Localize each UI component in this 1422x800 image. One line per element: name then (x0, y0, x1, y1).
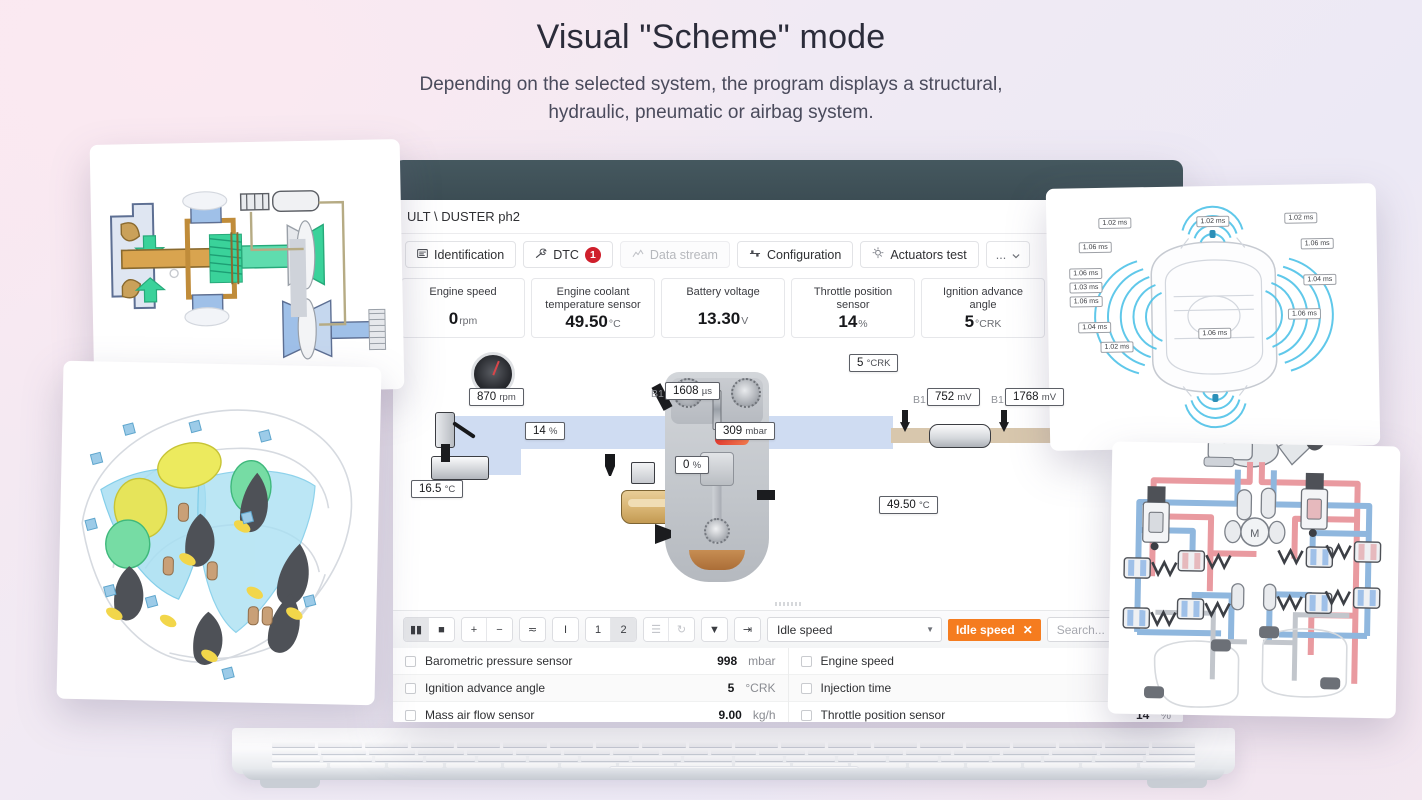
tooltip-unit: % (549, 426, 557, 437)
parameter-card-value: 5°CRK (928, 312, 1038, 332)
keyboard-key (272, 742, 315, 747)
mass-air-flow-sensor (435, 412, 455, 448)
parameter-card-name: Ignition advance angle (928, 286, 1038, 312)
laptop-foot-left (260, 780, 320, 788)
keyboard-key (369, 749, 415, 754)
wrench-icon (535, 248, 547, 262)
tooltip-unit: mbar (745, 426, 767, 437)
tab-more-menu[interactable]: ... (986, 241, 1030, 268)
parameter-card-unit: % (858, 318, 867, 330)
parking-sensor-scheme-card[interactable]: 1.02 ms 1.06 ms 1.06 ms 1.03 ms 1.06 ms … (1046, 183, 1381, 451)
row-checkbox[interactable] (801, 656, 812, 667)
parameter-card-number: 49.50 (565, 312, 608, 331)
row-name: Barometric pressure sensor (425, 654, 708, 668)
parameter-card-coolant-temp[interactable]: Engine coolant temperature sensor 49.50°… (531, 278, 655, 338)
row-value: 9.00 (718, 708, 741, 722)
bank-label-o2-upstream: B1 (913, 394, 926, 406)
keyboard-key (954, 749, 1000, 754)
keyboard-key (1059, 742, 1102, 747)
parameter-card-value: 13.30V (668, 309, 778, 329)
keyboard-key (920, 742, 963, 747)
parameter-card-engine-speed[interactable]: Engine speed 0rpm (401, 278, 525, 338)
parking-label: 1.02 ms (1196, 216, 1229, 228)
page-1-button[interactable]: 1 (586, 618, 611, 641)
page-subtitle-line1: Depending on the selected system, the pr… (420, 74, 1003, 95)
page-root: Visual "Scheme" mode Depending on the se… (0, 0, 1422, 800)
bank-label-o2-downstream: B1 (991, 394, 1004, 406)
tab-actuators-test[interactable]: Actuators test (860, 241, 978, 268)
keyboard-key (1044, 756, 1092, 761)
evap-canister (631, 462, 655, 484)
table-row[interactable]: Mass air flow sensor 9.00 kg/h (393, 702, 788, 722)
parameter-card-value: 14% (798, 312, 908, 332)
bulb-icon (872, 247, 884, 262)
keyboard-row (272, 742, 1195, 747)
parameter-card-unit: °CRK (975, 318, 1001, 330)
search-placeholder: Search... (1057, 623, 1105, 637)
keyboard-key (457, 742, 500, 747)
tooltip-unit: °C (919, 500, 930, 511)
parameter-card-unit: °C (609, 318, 621, 330)
cursor-group: I (552, 617, 579, 642)
parameter-card-ignition-advance[interactable]: Ignition advance angle 5°CRK (921, 278, 1045, 338)
keyboard-key (1095, 756, 1143, 761)
tooltip-coolant-temp[interactable]: 49.50 °C (879, 496, 938, 514)
row-checkbox[interactable] (801, 683, 812, 694)
air-filter-box (431, 456, 489, 480)
row-value: 5 (728, 681, 735, 695)
tooltip-value: 49.50 (887, 499, 916, 511)
keyboard-key (941, 756, 989, 761)
keyboard-key (318, 742, 361, 747)
tooltip-injection-time[interactable]: 1608 µs (665, 382, 720, 400)
keyboard-key (711, 749, 757, 754)
keyboard-key (467, 749, 513, 754)
tooltip-value: 16.5 (419, 483, 441, 495)
card-icon (417, 248, 428, 262)
airbag-system-scheme-card[interactable] (56, 361, 381, 706)
keyboard-key (321, 749, 367, 754)
keyboard-key (684, 756, 732, 761)
keyboard-key (1052, 749, 1098, 754)
cvt-transmission-illustration (90, 139, 405, 395)
cursor-button[interactable]: I (553, 618, 578, 641)
tooltip-value: 1768 (1013, 391, 1039, 403)
close-icon[interactable]: ✕ (1023, 623, 1033, 637)
tooltip-engine-speed[interactable]: 870 rpm (469, 388, 524, 406)
stop-button[interactable]: ■ (429, 618, 454, 641)
tab-dtc[interactable]: DTC 1 (523, 241, 613, 268)
zoom-group: + − (461, 617, 513, 642)
keyboard-key (992, 756, 1040, 761)
row-unit: °CRK (745, 681, 775, 695)
parameter-table: Barometric pressure sensor 998 mbar Igni… (393, 648, 1183, 722)
parameter-card-number: 14 (838, 312, 857, 331)
tooltip-o2-upstream[interactable]: 752 mV (927, 388, 980, 406)
page-title: Visual "Scheme" mode (0, 18, 1422, 57)
keyboard-key (564, 749, 610, 754)
parameter-card-throttle-position[interactable]: Throttle position sensor 14% (791, 278, 915, 338)
parameter-card-name: Throttle position sensor (798, 286, 908, 312)
page-subtitle-line2: hydraulic, pneumatic or airbag system. (548, 102, 873, 123)
keyboard-key (838, 756, 886, 761)
engine-block (665, 372, 769, 582)
tooltip-value: 14 (533, 425, 546, 437)
filter-button[interactable]: ▼ (702, 618, 727, 641)
keyboard-key (323, 756, 371, 761)
filter-group: ▼ (701, 617, 728, 642)
keyboard-key (874, 742, 917, 747)
keyboard-key (1105, 742, 1148, 747)
tab-more-label: ... (996, 248, 1006, 262)
parking-label: 1.06 ms (1070, 296, 1103, 308)
row-unit: kg/h (753, 708, 776, 722)
row-checkbox[interactable] (405, 710, 416, 721)
page-group: 1 2 (585, 617, 637, 642)
parking-label: 1.04 ms (1078, 322, 1111, 334)
sliders-icon (749, 248, 761, 262)
tab-identification[interactable]: Identification (405, 241, 516, 268)
playback-group: ▮▮ ■ (403, 617, 455, 642)
tooltip-value: 870 (477, 391, 496, 403)
keyboard-key (662, 749, 708, 754)
tooltip-ignition-advance[interactable]: 5 °CRK (849, 354, 898, 372)
keyboard-key (889, 756, 937, 761)
keyboard-key (1146, 756, 1194, 761)
keyboard-key (529, 756, 577, 761)
chevron-down-icon (1012, 248, 1020, 262)
tooltip-unit: µs (702, 386, 712, 397)
oil-sump (689, 550, 745, 570)
parameter-card-unit: V (741, 315, 748, 327)
keyboard-row (272, 749, 1195, 754)
keyboard-key (503, 742, 546, 747)
parking-label: 1.04 ms (1303, 274, 1336, 286)
parameter-table-left-column: Barometric pressure sensor 998 mbar Igni… (393, 648, 789, 722)
row-unit: mbar (748, 654, 775, 668)
keyboard-key (365, 742, 408, 747)
tooltip-unit: % (693, 460, 701, 471)
zoom-in-button[interactable]: + (462, 618, 487, 641)
smooth-button[interactable]: ≂ (520, 618, 545, 641)
keyboard-key (1003, 749, 1049, 754)
tooltip-value: 1608 (673, 385, 699, 397)
parameter-card-name: Engine speed (408, 286, 518, 299)
pause-button[interactable]: ▮▮ (404, 618, 429, 641)
airbag-system-illustration (56, 361, 381, 706)
laptop-foot-right (1147, 780, 1207, 788)
tooltip-unit: °CRK (867, 358, 891, 369)
keyboard-key (735, 756, 783, 761)
keyboard-key (272, 756, 320, 761)
tooltip-unit: mV (1042, 392, 1056, 403)
row-checkbox[interactable] (801, 710, 812, 721)
iat-sensor-probe (441, 444, 450, 462)
catalytic-converter (929, 424, 991, 448)
parameter-card-value: 49.50°C (538, 312, 648, 332)
parking-label: 1.06 ms (1301, 238, 1334, 250)
keyboard-key (1013, 742, 1056, 747)
keyboard-key (478, 756, 526, 761)
parking-label: 1.02 ms (1100, 341, 1133, 353)
tab-configuration-label: Configuration (767, 248, 841, 262)
parking-label: 1.02 ms (1098, 217, 1131, 229)
tab-configuration[interactable]: Configuration (737, 241, 853, 268)
list-refresh-group: ☰ ↻ (643, 617, 695, 642)
parameter-card-number: 0 (449, 309, 458, 328)
parameter-card-value: 0rpm (408, 309, 518, 329)
page-heading: Visual "Scheme" mode Depending on the se… (0, 18, 1422, 127)
parking-label: 1.02 ms (1284, 212, 1317, 224)
crankshaft (704, 518, 730, 544)
purge-valve-icon (605, 454, 615, 476)
coolant-temp-sensor (757, 490, 775, 500)
keyboard-key (1149, 749, 1195, 754)
parking-label: 1.06 ms (1069, 268, 1102, 280)
tab-data-stream[interactable]: Data stream (620, 241, 730, 268)
tooltip-throttle-position[interactable]: 14 % (525, 422, 565, 440)
keyboard-key (550, 742, 593, 747)
page-2-button[interactable]: 2 (611, 618, 636, 641)
tooltip-value: 5 (857, 357, 863, 369)
brake-hydraulic-scheme-card[interactable]: M (1108, 442, 1401, 719)
tooltip-value: 752 (935, 391, 954, 403)
keyboard-key (613, 749, 659, 754)
row-name: Injection time (821, 681, 1112, 695)
cvt-transmission-scheme-card[interactable] (90, 139, 405, 395)
row-name: Engine speed (821, 654, 1111, 668)
export-group: ⇥ (734, 617, 761, 642)
crank-position-sensor (655, 524, 671, 544)
datastream-toolbar: ▮▮ ■ + − ≂ I 1 2 ☰ ↻ ▼ (393, 610, 1183, 648)
keyboard-key (735, 742, 778, 747)
keyboard-key (759, 749, 805, 754)
chevron-down-icon: ▼ (926, 625, 934, 634)
keyboard-key (581, 756, 629, 761)
row-name: Ignition advance angle (425, 681, 719, 695)
tooltip-manifold-pressure[interactable]: 309 mbar (715, 422, 775, 440)
list-button[interactable]: ☰ (644, 618, 669, 641)
keyboard-key (906, 749, 952, 754)
keyboard-key (857, 749, 903, 754)
parameter-card-battery-voltage[interactable]: Battery voltage 13.30V (661, 278, 785, 338)
tooltip-value: 309 (723, 425, 742, 437)
keyboard-key (808, 749, 854, 754)
parameter-card-unit: rpm (459, 315, 477, 327)
tab-dtc-label: DTC (553, 248, 579, 262)
keyboard-key (516, 749, 562, 754)
tooltip-value: 0 (683, 459, 689, 471)
laptop-base (232, 722, 1235, 784)
keyboard-key (418, 749, 464, 754)
keyboard-key (786, 756, 834, 761)
preset-select[interactable]: Idle speed ▼ (767, 617, 942, 642)
parking-label: 1.06 ms (1198, 328, 1231, 340)
page-subtitle: Depending on the selected system, the pr… (0, 71, 1422, 127)
smooth-group: ≂ (519, 617, 546, 642)
parking-label: 1.06 ms (1288, 308, 1321, 320)
keyboard-key (411, 742, 454, 747)
row-checkbox[interactable] (405, 683, 416, 694)
keyboard-key (1100, 749, 1146, 754)
tooltip-unit: °C (445, 484, 456, 495)
parameter-card-name: Engine coolant temperature sensor (538, 286, 648, 312)
keyboard-key (642, 742, 685, 747)
row-name: Mass air flow sensor (425, 708, 709, 722)
keyboard-key (828, 742, 871, 747)
parameter-card-number: 5 (965, 312, 974, 331)
keyboard-key (596, 742, 639, 747)
tab-data-stream-label: Data stream (650, 248, 718, 262)
chart-icon (632, 248, 644, 262)
keyboard-key (272, 749, 318, 754)
table-row[interactable]: Barometric pressure sensor 998 mbar (393, 648, 788, 675)
table-row[interactable]: Ignition advance angle 5 °CRK (393, 675, 788, 702)
parking-label: 1.06 ms (1079, 242, 1112, 254)
keyboard-key (426, 756, 474, 761)
tooltip-o2-downstream[interactable]: 1768 mV (1005, 388, 1064, 406)
row-checkbox[interactable] (405, 656, 416, 667)
active-filter-chip-label: Idle speed (956, 623, 1015, 637)
keyboard-key (689, 742, 732, 747)
keyboard-key (966, 742, 1009, 747)
exhaust-camshaft (731, 378, 761, 408)
zoom-out-button[interactable]: − (487, 618, 512, 641)
svg-text:M: M (1250, 528, 1259, 540)
row-name: Throttle position sensor (821, 708, 1127, 722)
dtc-count-badge: 1 (585, 247, 601, 263)
tooltip-unit: mV (957, 392, 971, 403)
connecting-rod (713, 486, 722, 520)
scheme-resize-handle[interactable] (775, 602, 801, 606)
parameter-card-number: 13.30 (698, 309, 741, 328)
breadcrumb-text: ULT \ DUSTER ph2 (407, 209, 520, 224)
tab-actuators-test-label: Actuators test (890, 248, 966, 262)
laptop-front-lip (242, 768, 1225, 780)
tooltip-unit: rpm (499, 392, 515, 403)
brake-hydraulic-illustration: M (1108, 442, 1401, 719)
preset-select-value: Idle speed (777, 623, 832, 637)
tooltip-intake-air-temp[interactable]: 16.5 °C (411, 480, 463, 498)
keyboard-key (781, 742, 824, 747)
bank-label-injection: B1 (651, 388, 664, 400)
tab-identification-label: Identification (434, 248, 504, 262)
keyboard-key (632, 756, 680, 761)
keyboard-key (1152, 742, 1195, 747)
row-value: 998 (717, 654, 737, 668)
laptop-keyboard (272, 742, 1195, 764)
tooltip-purge-valve[interactable]: 0 % (675, 456, 709, 474)
keyboard-row (272, 756, 1195, 761)
parameter-card-name: Battery voltage (668, 286, 778, 299)
refresh-button[interactable]: ↻ (669, 618, 694, 641)
active-filter-chip[interactable]: Idle speed ✕ (948, 619, 1041, 641)
parking-label: 1.03 ms (1069, 282, 1102, 294)
export-button[interactable]: ⇥ (735, 618, 760, 641)
keyboard-key (375, 756, 423, 761)
